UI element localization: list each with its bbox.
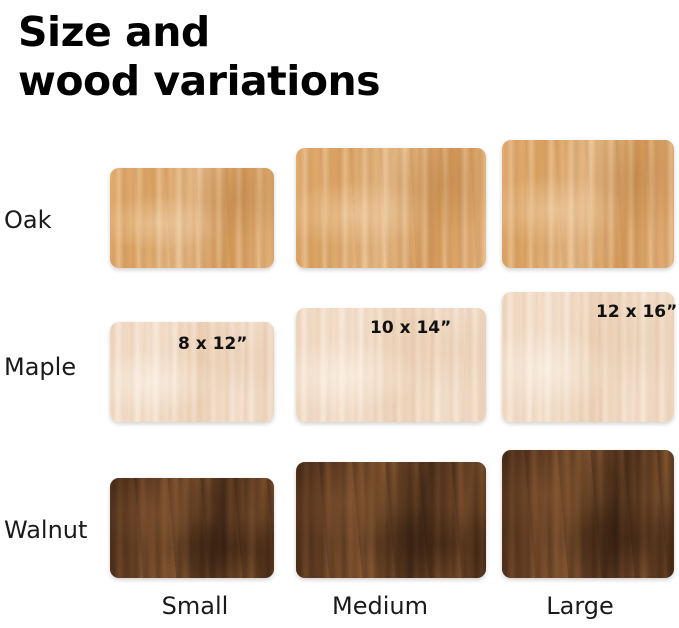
dimension-label-medium: 10 x 14” <box>370 318 451 338</box>
board-oak-medium <box>296 148 486 268</box>
size-and-wood-variations-infographic: Size and wood variations Oak Maple Walnu… <box>0 0 679 628</box>
wood-grain-texture-walnut <box>296 462 486 578</box>
column-label-small: Small <box>110 592 280 620</box>
row-label-walnut: Walnut <box>4 516 87 544</box>
board-walnut-small <box>110 478 274 578</box>
wood-grain-texture-oak <box>296 148 486 268</box>
dimension-label-small: 8 x 12” <box>178 334 247 354</box>
wood-grain-texture-oak <box>502 140 674 268</box>
wood-grain-texture-oak <box>110 168 274 268</box>
wood-grain-texture-walnut <box>110 478 274 578</box>
page-title: Size and wood variations <box>18 8 618 106</box>
wood-grain-texture-walnut <box>502 450 674 578</box>
column-label-medium: Medium <box>290 592 470 620</box>
board-walnut-large <box>502 450 674 578</box>
dimension-label-large: 12 x 16” <box>596 302 677 322</box>
row-label-maple: Maple <box>4 353 76 381</box>
board-walnut-medium <box>296 462 486 578</box>
board-oak-small <box>110 168 274 268</box>
row-label-oak: Oak <box>4 206 52 234</box>
column-label-large: Large <box>495 592 665 620</box>
board-oak-large <box>502 140 674 268</box>
